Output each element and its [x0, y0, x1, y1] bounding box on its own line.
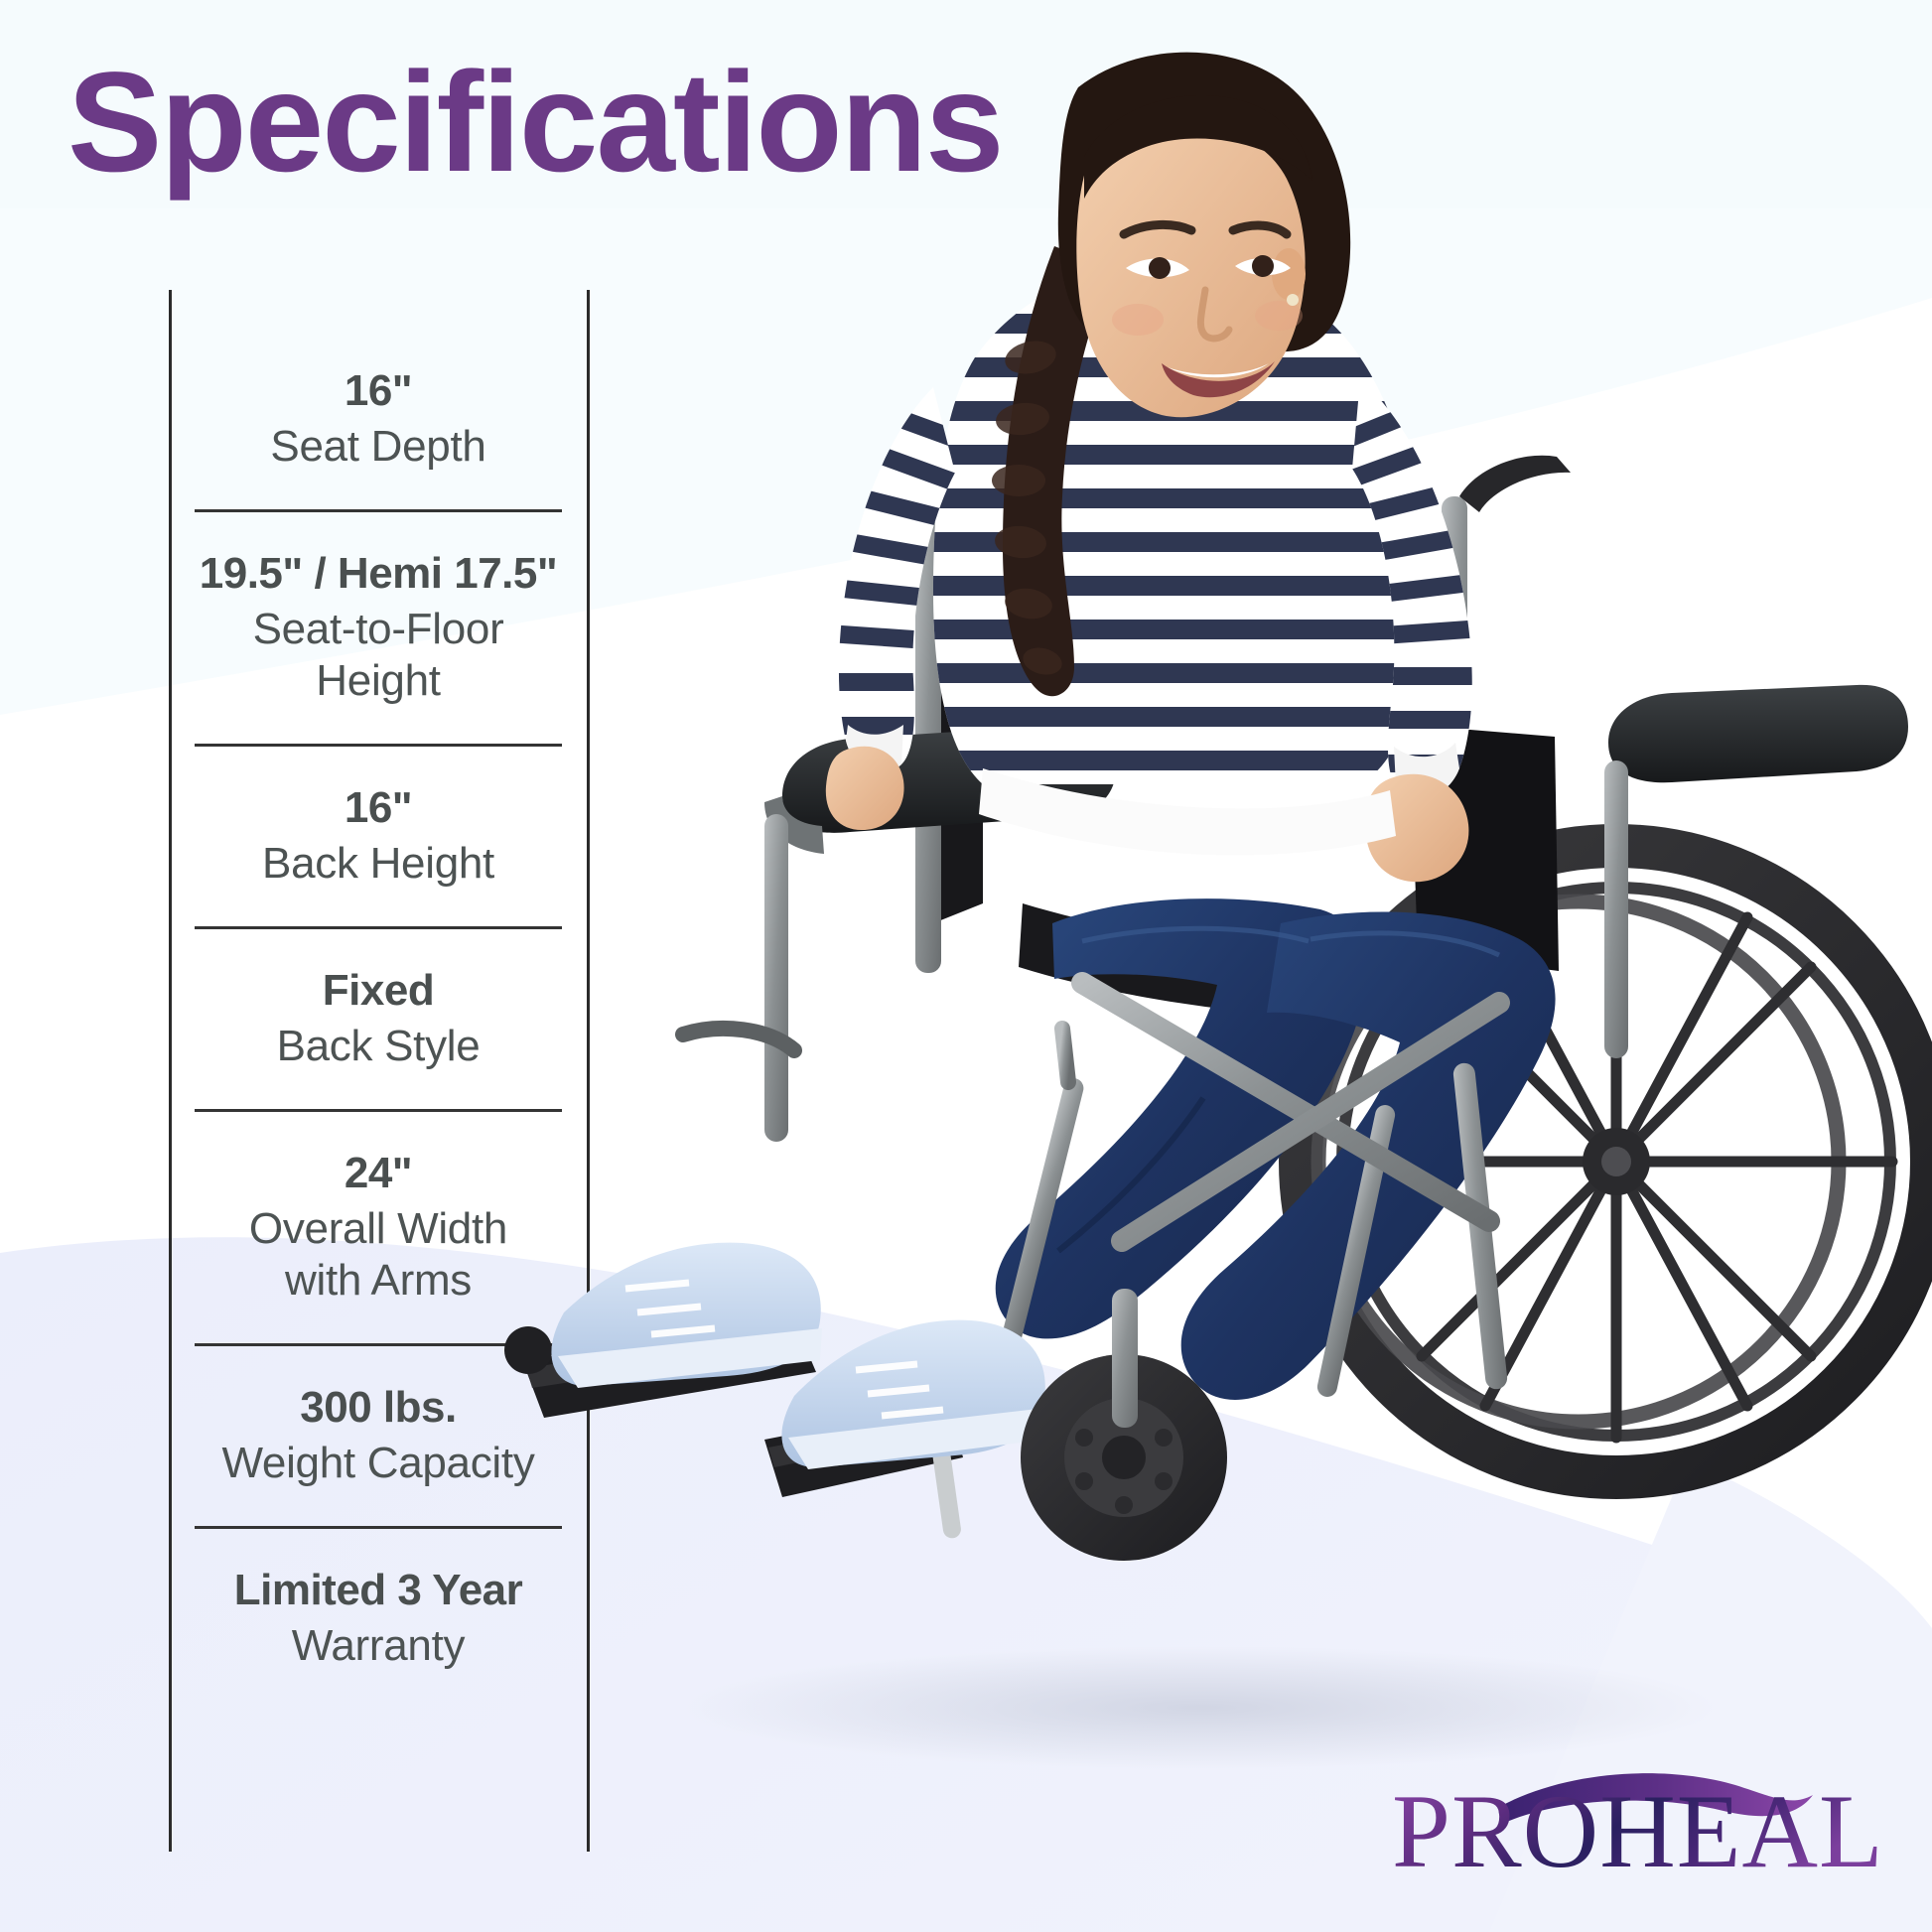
proheal-logo: PROHEAL: [1370, 1741, 1886, 1890]
logo-wordmark: PROHEAL: [1392, 1773, 1884, 1889]
shoe-left: [551, 1219, 822, 1388]
infographic-page: Specifications 16" Seat Depth 19.5" / He…: [0, 0, 1932, 1932]
push-handle: [1459, 456, 1571, 512]
product-photo-wheelchair-user: [467, 30, 1932, 1932]
brake-lever: [683, 1029, 794, 1050]
table-left-rule: [169, 290, 172, 1852]
